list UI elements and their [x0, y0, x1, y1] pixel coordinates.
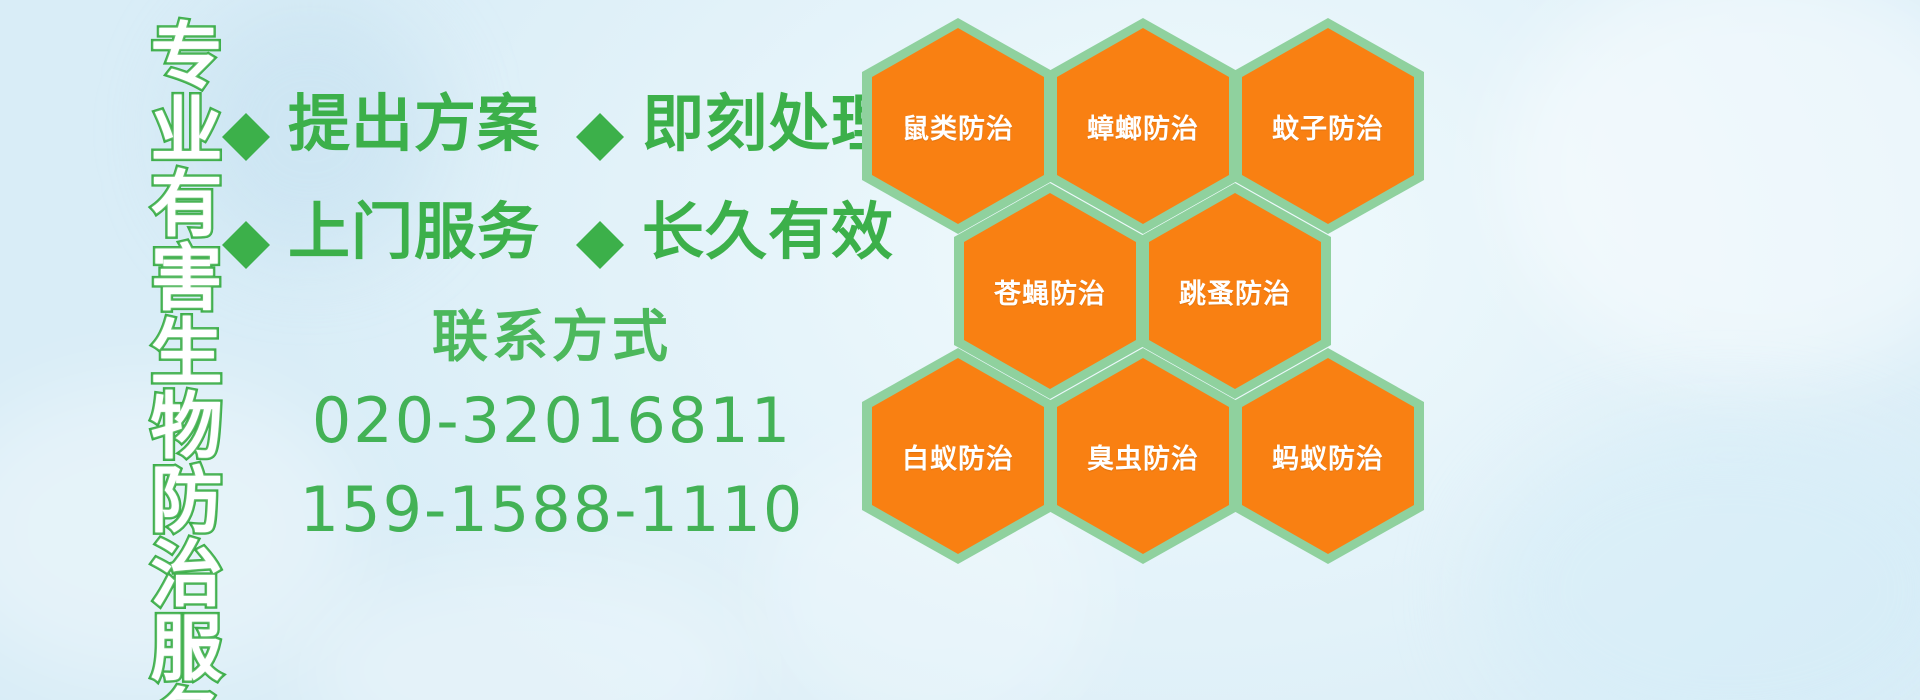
service-label-mosquito: 蚊子防治 [1272, 107, 1384, 146]
feature-label-3: 上门服务 [288, 201, 540, 263]
diamond-bullet-icon [576, 197, 624, 245]
contact-heading: 联系方式 [222, 300, 882, 376]
background-glow-3 [1500, 0, 1920, 380]
promo-banner: 专业有害生物防治服务 提出方案 即刻处理 上门服务 长久有效 联系方式 0 [0, 0, 1920, 700]
diamond-bullet-icon [222, 197, 270, 245]
hex-inner: 跳蚤防治 [1149, 193, 1321, 389]
hex-inner: 蟑螂防治 [1057, 28, 1229, 224]
feature-item-1: 提出方案 [222, 93, 540, 155]
service-honeycomb: 鼠类防治 蟑螂防治 蚊子防治 苍蝇防治 跳蚤防治 白蚁防治 [840, 0, 1500, 700]
vertical-headline: 专业有害生物防治服务 [104, 18, 216, 700]
feature-list: 提出方案 即刻处理 上门服务 长久有效 [222, 70, 872, 286]
phone-mobile[interactable]: 159-1588-1110 [222, 465, 882, 555]
feature-label-1: 提出方案 [288, 93, 540, 155]
service-label-rodent: 鼠类防治 [902, 107, 1014, 146]
feature-row-2: 上门服务 长久有效 [222, 178, 872, 286]
diamond-bullet-icon [576, 89, 624, 137]
background-glow-2 [300, 560, 760, 700]
service-label-bedbug: 臭虫防治 [1087, 437, 1199, 476]
service-label-termite: 白蚁防治 [902, 437, 1014, 476]
service-label-cockroach: 蟑螂防治 [1087, 107, 1199, 146]
background-glow-4 [1480, 420, 1920, 700]
hex-inner: 蚊子防治 [1242, 28, 1414, 224]
hex-inner: 苍蝇防治 [964, 193, 1136, 389]
hex-inner: 臭虫防治 [1057, 358, 1229, 554]
hex-inner: 白蚁防治 [872, 358, 1044, 554]
hex-inner: 蚂蚁防治 [1242, 358, 1414, 554]
feature-item-3: 上门服务 [222, 201, 540, 263]
service-label-flea: 跳蚤防治 [1179, 272, 1291, 311]
hex-inner: 鼠类防治 [872, 28, 1044, 224]
service-label-ant: 蚂蚁防治 [1272, 437, 1384, 476]
feature-row-1: 提出方案 即刻处理 [222, 70, 872, 178]
diamond-bullet-icon [222, 89, 270, 137]
phone-landline[interactable]: 020-32016811 [222, 376, 882, 466]
contact-block: 联系方式 020-32016811 159-1588-1110 [222, 300, 882, 555]
service-label-fly: 苍蝇防治 [994, 272, 1106, 311]
